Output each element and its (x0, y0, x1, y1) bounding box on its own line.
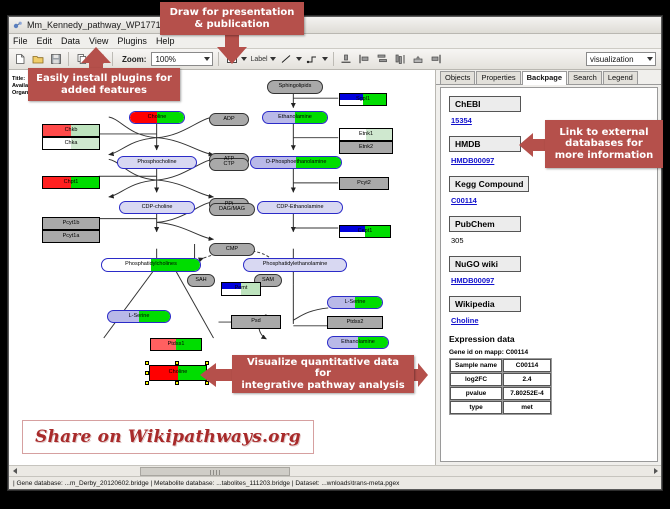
node-psd[interactable]: Psd (231, 315, 281, 329)
align-right-icon[interactable] (429, 52, 444, 67)
node-label: CTP (224, 162, 235, 168)
share-banner-text: Share on Wikipathways.org (35, 427, 301, 447)
node-label: Choline (148, 115, 167, 121)
side-panel-tabs: Objects Properties Backpage Search Legen… (436, 70, 661, 85)
table-cell-value: C00114 (503, 359, 551, 372)
visualization-value: visualization (590, 55, 634, 64)
pathway-drawing[interactable]: Title: Availab Organi (9, 70, 435, 465)
toolbar-separator-1 (68, 52, 69, 66)
align-bottom-icon[interactable] (339, 52, 354, 67)
callout-plugins-line1: Easily install plugins for (36, 73, 172, 85)
pathvisio-app-icon (13, 20, 23, 30)
callout-draw-line2: & publication (194, 19, 269, 31)
chevron-down-icon (270, 57, 276, 61)
node-label: Psd (251, 319, 260, 325)
label-dropdown-text: Label (250, 56, 267, 63)
scroll-left-icon[interactable] (9, 466, 20, 477)
node-o-phosphoethanolamine[interactable]: O-Phosphoethanolamine (250, 156, 342, 169)
node-sgpl1[interactable]: Sgpl1 (339, 93, 387, 106)
node-label: L-Serine (129, 314, 150, 320)
node-label: Ptdss1 (168, 342, 185, 348)
canvas-info-title: Title: (12, 76, 25, 82)
node-pcyt1a[interactable]: Pcyt1a (42, 230, 100, 243)
node-label: O-Phosphoethanolamine (266, 160, 327, 166)
node-ptdss1[interactable]: Ptdss1 (150, 338, 202, 351)
callout-visualize-line1: Visualize quantitative data for (238, 357, 408, 380)
table-row: Sample name C00114 (450, 359, 551, 372)
node-label: L-Serine (345, 300, 366, 306)
title-bar: Mm_Kennedy_pathway_WP1771_45176.gpml (9, 17, 661, 34)
node-label: CDP-choline (142, 205, 173, 211)
status-bar: | Gene database: ...m_Derby_20120602.bri… (9, 476, 661, 489)
node-label: Pcyt1b (63, 221, 80, 227)
node-label: Chkb (65, 128, 78, 134)
node-etnk2[interactable]: Etnk2 (339, 141, 393, 154)
line-icon[interactable] (279, 52, 294, 67)
backpage-link-kegg[interactable]: C00114 (451, 196, 657, 205)
menu-item-file[interactable]: File (13, 36, 28, 46)
backpage-heading-kegg: Kegg Compound (449, 176, 529, 192)
selection-handle-n[interactable] (175, 361, 179, 365)
table-cell-value: met (503, 401, 551, 414)
node-phosphocholine[interactable]: Phosphocholine (117, 156, 197, 169)
node-pemt[interactable]: Pemt (221, 282, 261, 296)
menu-item-edit[interactable]: Edit (37, 36, 53, 46)
label-tool[interactable]: Label (250, 56, 275, 63)
callout-plugins-line2: added features (61, 85, 147, 97)
table-cell-value: 2.4 (503, 373, 551, 386)
callout-links-line1: Link to external (559, 127, 648, 139)
zoom-value: 100% (155, 55, 175, 64)
backpage-link-nugo[interactable]: HMDB00097 (451, 276, 657, 285)
stack-icon[interactable] (411, 52, 426, 67)
node-phosphatidylethanolamine[interactable]: Phosphatidylethanolamine (243, 258, 347, 272)
node-label: CMP (226, 247, 238, 253)
zoom-label: Zoom: (122, 55, 146, 64)
node-label: SAH (195, 278, 206, 284)
node-choline-selected[interactable]: Choline (149, 365, 207, 381)
gene-id-on-mapp: Gene id on mapp: C00114 (449, 349, 657, 356)
node-sphingolipids[interactable]: Sphingolipids (267, 80, 323, 94)
tab-objects[interactable]: Objects (440, 71, 475, 84)
node-ethanolamine-top[interactable]: Ethanolamine (262, 111, 328, 124)
table-cell-value: 7.80252E-4 (503, 387, 551, 400)
node-label: Ptdss2 (347, 320, 364, 326)
screen-root: Mm_Kennedy_pathway_WP1771_45176.gpml Fil… (0, 0, 670, 509)
node-label: CDP-Ethanolamine (276, 205, 323, 211)
node-label: Chka (65, 141, 78, 147)
node-label: Cept1 (358, 229, 373, 235)
backpage-heading-chebi: ChEBI (449, 96, 521, 112)
callout-draw-arrow-icon (212, 33, 252, 65)
node-label: Sgpl1 (356, 97, 370, 103)
menu-item-view[interactable]: View (89, 36, 108, 46)
tab-properties[interactable]: Properties (476, 71, 520, 84)
node-chka[interactable]: Chka (42, 137, 100, 150)
backpage-heading-nugo: NuGO wiki (449, 256, 521, 272)
node-sah[interactable]: SAH (187, 274, 215, 287)
node-cdp-choline[interactable]: CDP-choline (119, 201, 195, 214)
selection-handle-s[interactable] (175, 381, 179, 385)
backpage-link-wikipedia[interactable]: Choline (451, 316, 657, 325)
node-label: SAM (262, 278, 274, 284)
chevron-down-icon (647, 57, 653, 61)
chevron-down-icon (204, 57, 210, 61)
selection-handle-w[interactable] (145, 371, 149, 375)
node-label: Ethanolamine (278, 115, 312, 121)
backpage-heading-pubchem: PubChem (449, 216, 521, 232)
node-pcyt1b[interactable]: Pcyt1b (42, 217, 100, 230)
callout-draw-line1: Draw for presentation (170, 7, 295, 19)
horizontal-scrollbar[interactable] (9, 465, 661, 476)
table-cell-key: Sample name (450, 359, 502, 372)
node-l-serine-left[interactable]: L-Serine (107, 310, 171, 323)
table-cell-key: log2FC (450, 373, 502, 386)
backpage-heading-hmdb: HMDB (449, 136, 521, 152)
line-tool[interactable] (279, 52, 302, 67)
node-label: Phosphatidylcholines (125, 262, 177, 268)
toolbar-separator-4 (333, 52, 334, 66)
distribute-horizontal-icon[interactable] (393, 52, 408, 67)
menu-item-data[interactable]: Data (61, 36, 80, 46)
node-label: Choline (169, 370, 188, 376)
chevron-down-icon (296, 57, 302, 61)
node-etnk1[interactable]: Etnk1 (339, 128, 393, 141)
node-chpt1[interactable]: Chpt1 (42, 176, 100, 189)
callout-visualize-arrow-icon (200, 363, 236, 387)
open-folder-icon[interactable] (30, 52, 45, 67)
table-cell-key: type (450, 401, 502, 414)
node-cmp[interactable]: CMP (209, 243, 255, 256)
pathway-canvas[interactable]: Title: Availab Organi (9, 70, 436, 465)
node-label: Etnk2 (359, 145, 373, 151)
table-row: type met (450, 401, 551, 414)
tab-search[interactable]: Search (568, 71, 602, 84)
node-label: Phosphocholine (137, 160, 176, 166)
new-file-icon[interactable] (12, 52, 27, 67)
expression-table: Sample name C00114 log2FC 2.4 pvalue 7.8… (449, 358, 552, 415)
selection-handle-sw[interactable] (145, 381, 149, 385)
table-row: log2FC 2.4 (450, 373, 551, 386)
node-phosphatidylcholines[interactable]: Phosphatidylcholines (101, 258, 201, 272)
backpage-value-pubchem: 305 (451, 236, 657, 245)
node-label: Chpt1 (64, 180, 79, 186)
menu-item-plugins[interactable]: Plugins (117, 36, 147, 46)
status-bar-text: | Gene database: ...m_Derby_20120602.bri… (13, 480, 399, 487)
node-label: Sphingolipids (279, 84, 312, 90)
expression-data-title: Expression data (449, 334, 657, 344)
selection-handle-nw[interactable] (145, 361, 149, 365)
save-icon[interactable] (48, 52, 63, 67)
node-choline-top[interactable]: Choline (129, 111, 185, 124)
node-label: DAG/MAG (219, 207, 245, 213)
node-cdp-ethanolamine[interactable]: CDP-Ethanolamine (257, 201, 343, 214)
callout-draw: Draw for presentation & publication (160, 2, 304, 35)
callout-visualize-line2: integrative pathway analysis (241, 380, 404, 392)
callout-links: Link to external databases for more info… (545, 120, 663, 168)
node-ptdss2[interactable]: Ptdss2 (327, 316, 383, 329)
table-cell-key: pvalue (450, 387, 502, 400)
zoom-combo[interactable]: 100% (151, 52, 213, 66)
tab-backpage[interactable]: Backpage (522, 71, 567, 85)
node-chkb[interactable]: Chkb (42, 124, 100, 137)
node-label: Phosphatidylethanolamine (263, 262, 328, 268)
scrollbar-thumb[interactable] (140, 467, 290, 476)
node-l-serine-right[interactable]: L-Serine (327, 296, 383, 309)
callout-plugins: Easily install plugins for added feature… (28, 68, 180, 101)
node-label: Pcyt1a (63, 234, 80, 240)
node-cept1[interactable]: Cept1 (339, 225, 391, 238)
share-banner: Share on Wikipathways.org (22, 420, 314, 454)
visualization-combo[interactable]: visualization (586, 52, 656, 66)
scroll-right-icon[interactable] (650, 466, 661, 477)
node-adp[interactable]: ADP (209, 113, 249, 126)
connector-icon[interactable] (305, 52, 320, 67)
node-label: ADP (223, 117, 234, 123)
backpage-heading-wikipedia: Wikipedia (449, 296, 521, 312)
node-pcyt2[interactable]: Pcyt2 (339, 177, 389, 190)
node-label: Etnk1 (359, 132, 373, 138)
distribute-vertical-icon[interactable] (375, 52, 390, 67)
align-left-icon[interactable] (357, 52, 372, 67)
connector-tool[interactable] (305, 52, 328, 67)
node-label: Pcyt2 (357, 181, 371, 187)
menu-item-help[interactable]: Help (156, 36, 175, 46)
callout-links-line3: more information (555, 150, 654, 162)
node-ethanolamine-bottom[interactable]: Ethanolamine (327, 336, 389, 349)
callout-visualize: Visualize quantitative data for integrat… (232, 355, 414, 393)
table-row: pvalue 7.80252E-4 (450, 387, 551, 400)
tab-legend[interactable]: Legend (603, 71, 638, 84)
callout-links-line2: databases for (565, 138, 643, 150)
node-label: Pemt (235, 286, 248, 292)
node-label: Ethanolamine (341, 340, 375, 346)
chevron-down-icon (322, 57, 328, 61)
